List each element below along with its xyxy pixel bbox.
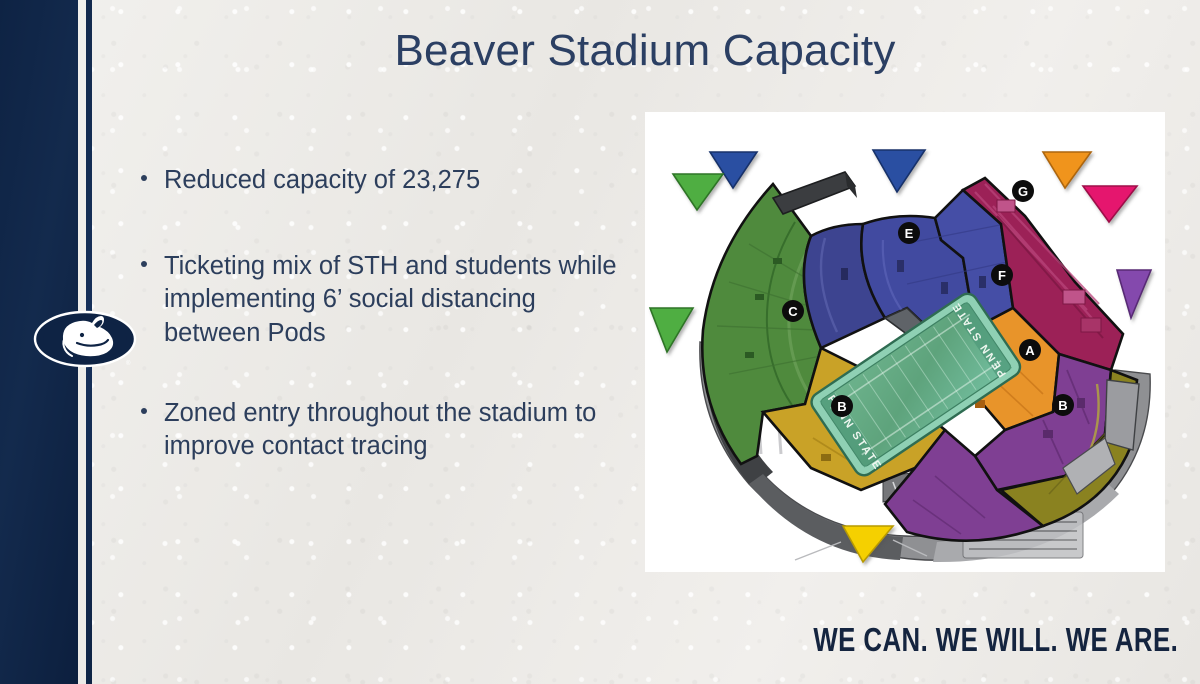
bullet-marker-icon bbox=[141, 408, 147, 414]
svg-text:A: A bbox=[1025, 343, 1035, 358]
bullet-list: Reduced capacity of 23,275 Ticketing mix… bbox=[138, 164, 638, 464]
bullet-item-ticketing: Ticketing mix of STH and students while … bbox=[138, 250, 638, 351]
bullet-item-capacity: Reduced capacity of 23,275 bbox=[138, 164, 638, 198]
zone-badge-B-east[interactable]: B bbox=[1052, 394, 1074, 416]
zone-badge-B-west[interactable]: B bbox=[831, 395, 853, 417]
bullet-text: Ticketing mix of STH and students while … bbox=[164, 252, 617, 347]
stadium-map-panel: PENN STATE PENN STATE C E G bbox=[645, 112, 1165, 572]
stadium-grey-connector bbox=[1105, 380, 1139, 450]
bullet-text: Reduced capacity of 23,275 bbox=[164, 166, 480, 194]
tagline: WE CAN. WE WILL. WE ARE. bbox=[813, 622, 1178, 660]
zone-badge-F[interactable]: F bbox=[991, 264, 1013, 286]
penn-state-nittany-lion-logo: ® bbox=[33, 303, 137, 375]
svg-text:E: E bbox=[905, 226, 914, 241]
svg-text:F: F bbox=[998, 268, 1006, 283]
page-title: Beaver Stadium Capacity bbox=[140, 26, 1150, 76]
zone-badge-E[interactable]: E bbox=[898, 222, 920, 244]
bullet-text: Zoned entry throughout the stadium to im… bbox=[164, 399, 596, 461]
slide-canvas: ® Beaver Stadium Capacity Reduced capaci… bbox=[0, 0, 1200, 684]
bullet-item-zoned-entry: Zoned entry throughout the stadium to im… bbox=[138, 397, 638, 464]
zone-badge-G[interactable]: G bbox=[1012, 180, 1034, 202]
svg-text:C: C bbox=[788, 304, 798, 319]
svg-text:®: ® bbox=[126, 360, 131, 367]
bullet-marker-icon bbox=[141, 175, 147, 181]
zone-badge-C[interactable]: C bbox=[782, 300, 804, 322]
svg-text:B: B bbox=[1058, 398, 1067, 413]
svg-text:G: G bbox=[1018, 184, 1028, 199]
svg-text:B: B bbox=[837, 399, 846, 414]
zone-badge-A[interactable]: A bbox=[1019, 339, 1041, 361]
bullet-marker-icon bbox=[141, 261, 147, 267]
